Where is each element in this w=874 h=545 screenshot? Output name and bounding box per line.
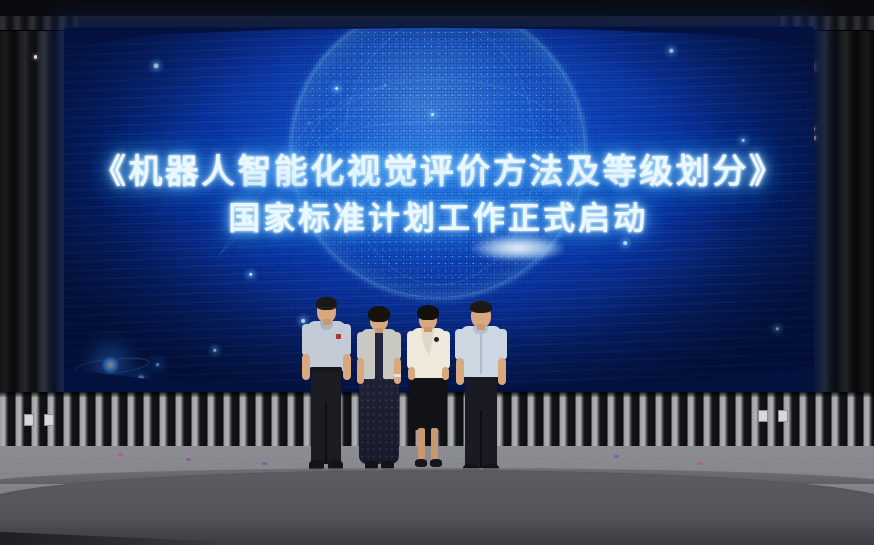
- person-3-leg: [418, 428, 425, 462]
- wall-outlet: [758, 410, 768, 422]
- person-4-shirt-placket: [480, 328, 482, 374]
- person-1-forearm-left: [302, 354, 310, 380]
- person-4: [452, 294, 510, 490]
- person-2-neck: [375, 328, 383, 333]
- person-3-hair: [417, 305, 439, 320]
- person-3-shoe: [415, 459, 427, 467]
- ceiling-dark-band: [0, 0, 874, 16]
- person-2-forearm-left: [357, 358, 364, 384]
- person-3-shoe: [430, 459, 442, 467]
- wall-outlet: [778, 410, 788, 422]
- person-2-sleeve-right: [392, 332, 401, 360]
- person-3-sleeve-right: [441, 331, 450, 369]
- person-3-leg: [431, 428, 438, 462]
- person-3-neck: [424, 327, 432, 332]
- person-1-leg-gap: [325, 402, 327, 464]
- person-3-hand-right: [442, 367, 449, 380]
- person-4-hair: [470, 301, 492, 313]
- confetti-piece: [614, 455, 619, 458]
- headline-line-2: 国家标准计划工作正式启动: [64, 198, 814, 238]
- person-1-forearm-right: [343, 354, 351, 380]
- confetti-piece: [698, 462, 703, 465]
- person-2-forearm-right: [394, 358, 401, 384]
- person-2-skirt-pattern: [359, 376, 399, 464]
- person-1: [298, 290, 354, 488]
- person-4-neck: [477, 324, 485, 330]
- person-4-forearm-left: [456, 358, 464, 385]
- person-4-forearm-right: [498, 358, 506, 385]
- person-3-sleeve-left: [407, 331, 416, 369]
- person-4-sleeve-left: [455, 329, 466, 360]
- person-4-sleeve-right: [496, 329, 507, 360]
- wall-lamp-reflection: [34, 55, 37, 59]
- wall-outlet: [44, 414, 54, 426]
- wall-outlet: [24, 414, 34, 426]
- person-2-hair: [368, 306, 390, 322]
- person-3: [402, 300, 454, 486]
- person-1-arm-right: [341, 324, 351, 356]
- confetti-piece: [186, 458, 191, 461]
- photo-scene: 《机器人智能化视觉评价方法及等级划分》 国家标准计划工作正式启动: [0, 0, 874, 545]
- confetti-piece: [262, 462, 267, 465]
- person-4-leg-gap: [480, 410, 482, 468]
- person-1-neck: [323, 319, 331, 325]
- person-1-belt: [310, 367, 342, 372]
- person-1-glasses: [318, 307, 335, 312]
- confetti-piece: [118, 453, 123, 456]
- person-3-brooch: [434, 337, 439, 342]
- person-2-watch: [394, 374, 401, 377]
- person-3-hand-left: [408, 367, 415, 380]
- screen-headline-block: 《机器人智能化视觉评价方法及等级划分》 国家标准计划工作正式启动: [64, 151, 814, 238]
- person-3-skirt: [409, 374, 447, 430]
- headline-line-1: 《机器人智能化视觉评价方法及等级划分》: [64, 151, 814, 194]
- person-2: [353, 300, 405, 488]
- person-2-sleeve-left: [357, 332, 366, 360]
- person-1-arm-left: [302, 324, 312, 356]
